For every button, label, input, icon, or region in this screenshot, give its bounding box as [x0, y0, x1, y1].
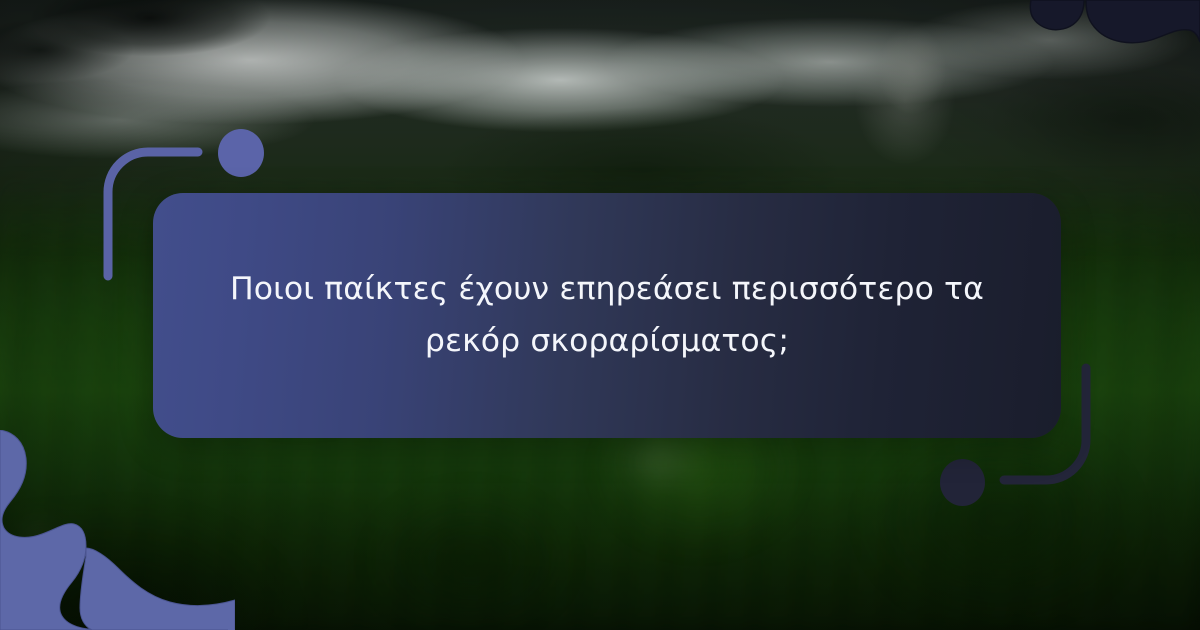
- accent-circle-bottom-right: [940, 459, 985, 506]
- question-text: Ποιοι παίκτες έχουν επηρεάσει περισσότερ…: [212, 264, 1002, 366]
- accent-circle-top-left: [218, 129, 264, 177]
- organic-blob-bottom-left: [0, 430, 235, 630]
- question-card: Ποιοι παίκτες έχουν επηρεάσει περισσότερ…: [153, 193, 1061, 438]
- social-card-canvas: Ποιοι παίκτες έχουν επηρεάσει περισσότερ…: [0, 0, 1200, 630]
- organic-blob-top-right: [985, 0, 1200, 135]
